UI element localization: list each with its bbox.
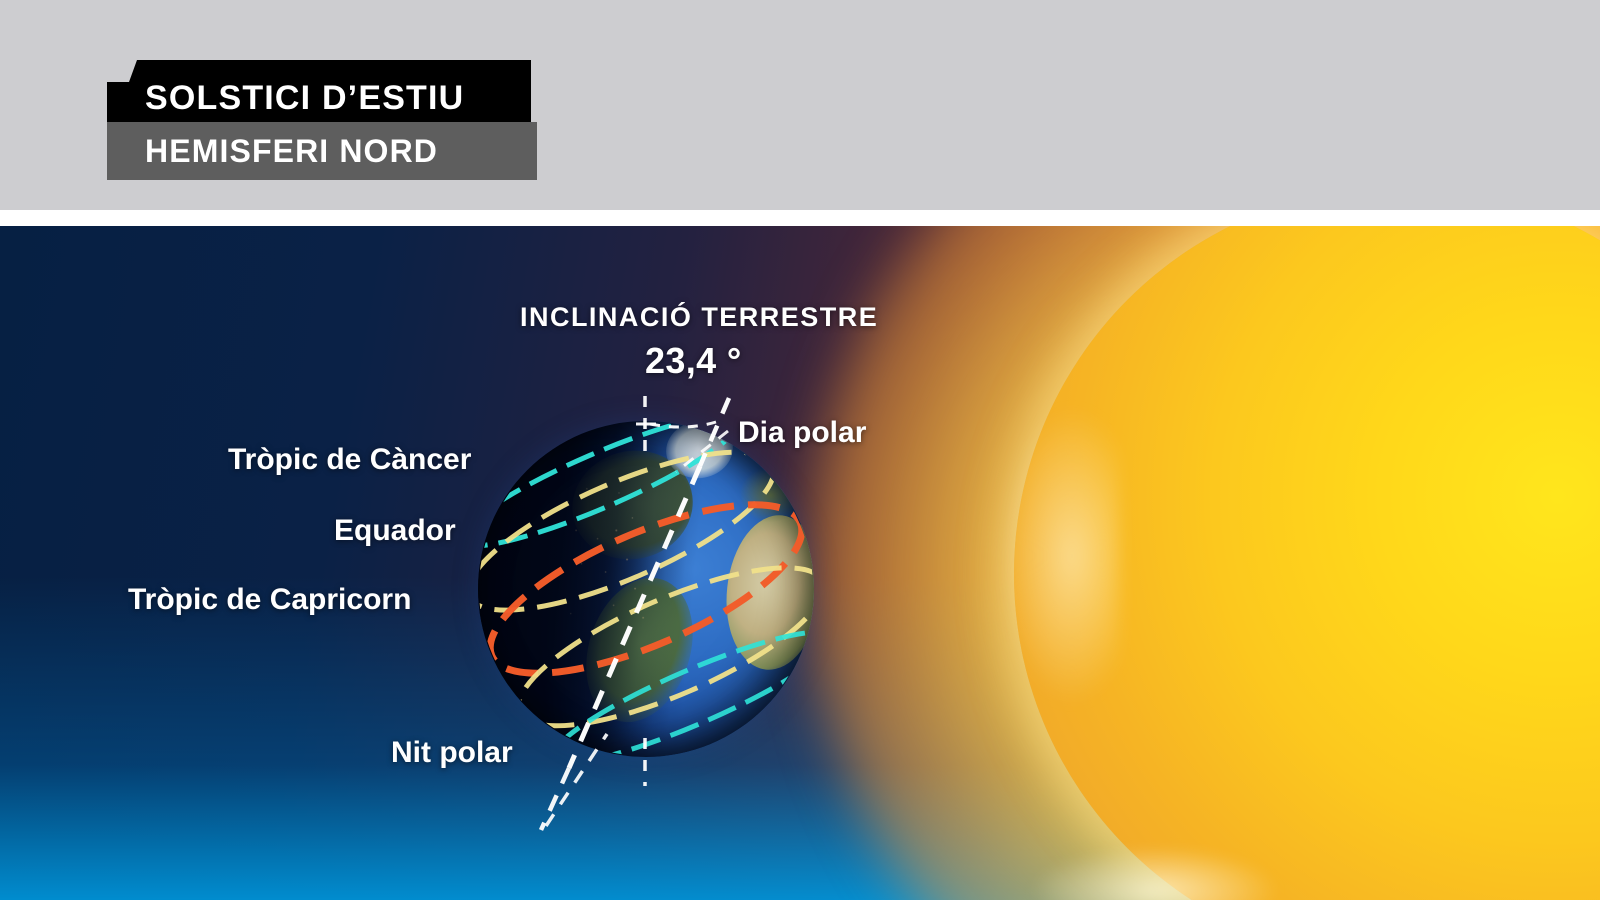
illustration-scene: INCLINACIÓ TERRESTRE 23,4 ° Tròpic de Cà… (0, 226, 1600, 900)
label-polar-day: Dia polar (738, 416, 866, 450)
label-polar-night: Nit polar (391, 736, 513, 770)
tilt-value-label: 23,4 ° (645, 340, 742, 382)
city-lights (552, 468, 686, 676)
earth-sphere (478, 421, 814, 757)
title-primary-text: SOLSTICI D’ESTIU (107, 65, 464, 118)
sun-flare-icon (1000, 406, 1120, 706)
earth-globe (478, 421, 814, 757)
label-tropic-capricorn: Tròpic de Capricorn (128, 583, 411, 617)
earth-axis-line-bottom (541, 768, 569, 830)
title-secondary-text: HEMISFERI NORD (107, 133, 438, 170)
banner-secondary: HEMISFERI NORD (107, 122, 537, 180)
tilt-title-label: INCLINACIÓ TERRESTRE (520, 302, 878, 333)
sun-flare-icon (1030, 846, 1280, 900)
landmass-africa (719, 511, 814, 675)
landmass-europe (740, 468, 800, 522)
infographic-stage: SOLSTICI D’ESTIU HEMISFERI NORD (0, 0, 1600, 900)
title-block: SOLSTICI D’ESTIU HEMISFERI NORD (107, 60, 537, 180)
label-tropic-cancer: Tròpic de Càncer (228, 443, 471, 477)
banner-primary: SOLSTICI D’ESTIU (107, 60, 531, 122)
header-separator (0, 210, 1600, 226)
label-equator: Equador (334, 514, 456, 548)
